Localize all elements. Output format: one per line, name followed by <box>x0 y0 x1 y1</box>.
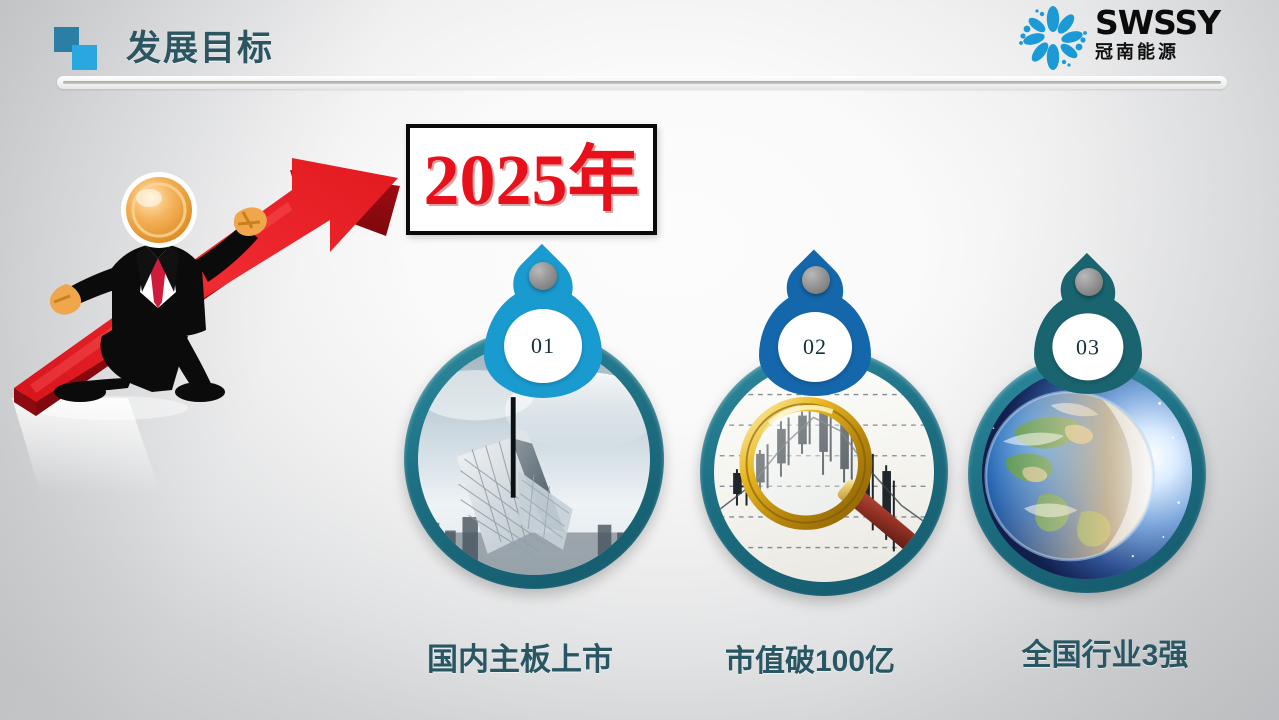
goal-caption-2: 市值破100亿 <box>690 636 930 680</box>
growth-arrow-artwork <box>0 140 420 520</box>
goal-number-1: 01 <box>531 333 555 359</box>
petal-flower-icon <box>1017 6 1089 70</box>
logo-name: SWSSY <box>1095 6 1220 40</box>
drop-badge-1[interactable]: 01 <box>484 286 602 398</box>
logo-subtitle: 冠南能源 <box>1095 41 1220 63</box>
drop-inner-circle-1: 01 <box>504 310 582 384</box>
pin-dot-icon-1 <box>529 262 557 290</box>
pin-dot-icon-3 <box>1075 268 1103 296</box>
earth-globe-photo <box>982 369 1192 579</box>
company-logo: SWSSY 冠南能源 <box>1017 4 1269 72</box>
drop-inner-circle-2: 02 <box>778 312 852 382</box>
logo-wordmark: SWSSY 冠南能源 <box>1095 6 1220 63</box>
year-callout-text: 2025年 <box>423 144 639 216</box>
drop-badge-3[interactable]: 03 <box>1034 292 1142 394</box>
pin-dot-icon-2 <box>802 266 830 294</box>
goal-number-3: 03 <box>1076 334 1100 360</box>
goal-caption-1: 国内主板上市 <box>380 634 660 679</box>
year-callout-box: 2025年 <box>406 124 657 235</box>
goal-caption-3: 全国行业3强 <box>975 630 1235 674</box>
header-square-light-icon <box>72 45 97 70</box>
header-decoration-squares <box>48 27 110 71</box>
goal-number-2: 02 <box>803 334 827 360</box>
drop-inner-circle-3: 03 <box>1052 313 1123 380</box>
header-divider-rule <box>57 76 1227 89</box>
page-title: 发展目标 <box>126 20 274 71</box>
slide-canvas: 发展目标 <box>0 0 1279 720</box>
drop-badge-2[interactable]: 02 <box>759 290 871 396</box>
